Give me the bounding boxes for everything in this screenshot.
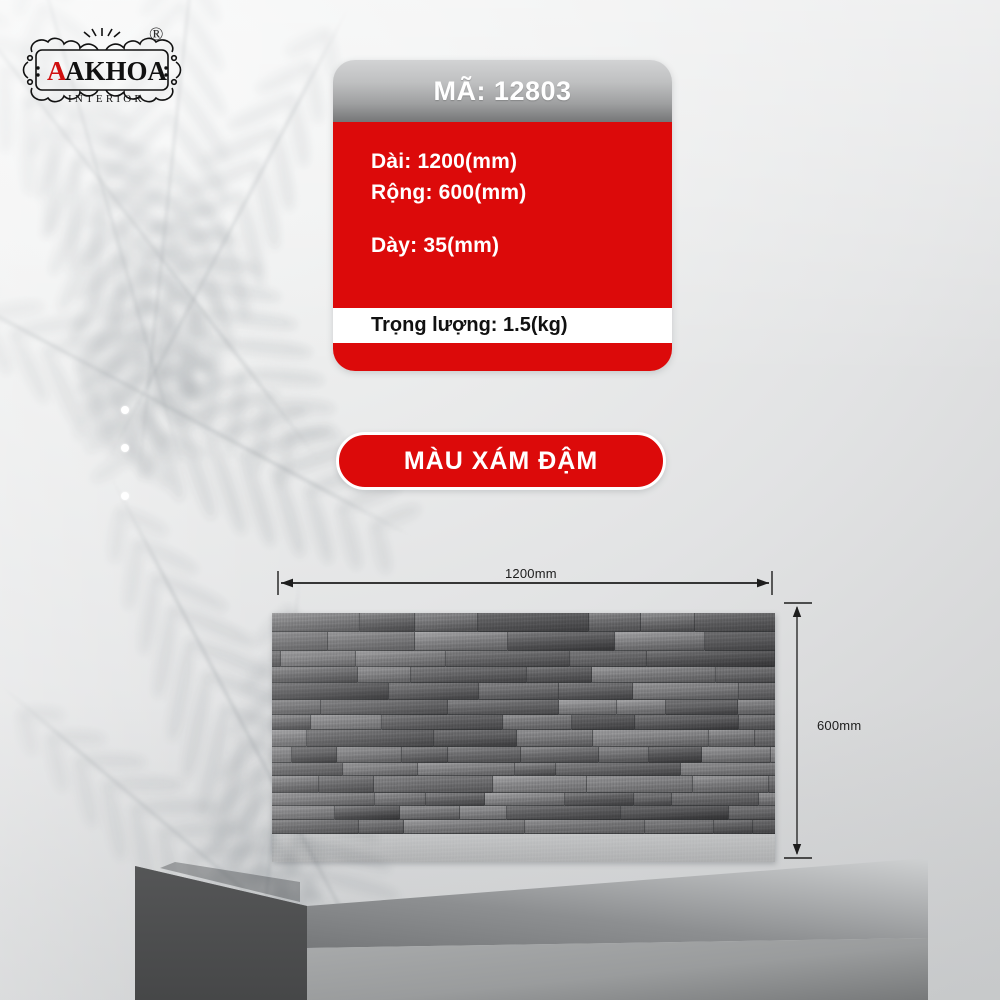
dimension-annotations: 1200mm 600mm [0, 0, 1000, 1000]
product-spec-infographic: A AKHOA INTERIOR ® MÃ: 12803 Dài: 1200(m… [0, 0, 1000, 1000]
arrowhead-left [281, 579, 293, 588]
width-dimension-label: 1200mm [505, 566, 557, 581]
dimension-lines [0, 0, 1000, 1000]
arrowhead-top [793, 606, 801, 617]
height-dimension-label: 600mm [817, 718, 861, 733]
arrowhead-right [757, 579, 769, 588]
arrowhead-bottom [793, 844, 801, 855]
